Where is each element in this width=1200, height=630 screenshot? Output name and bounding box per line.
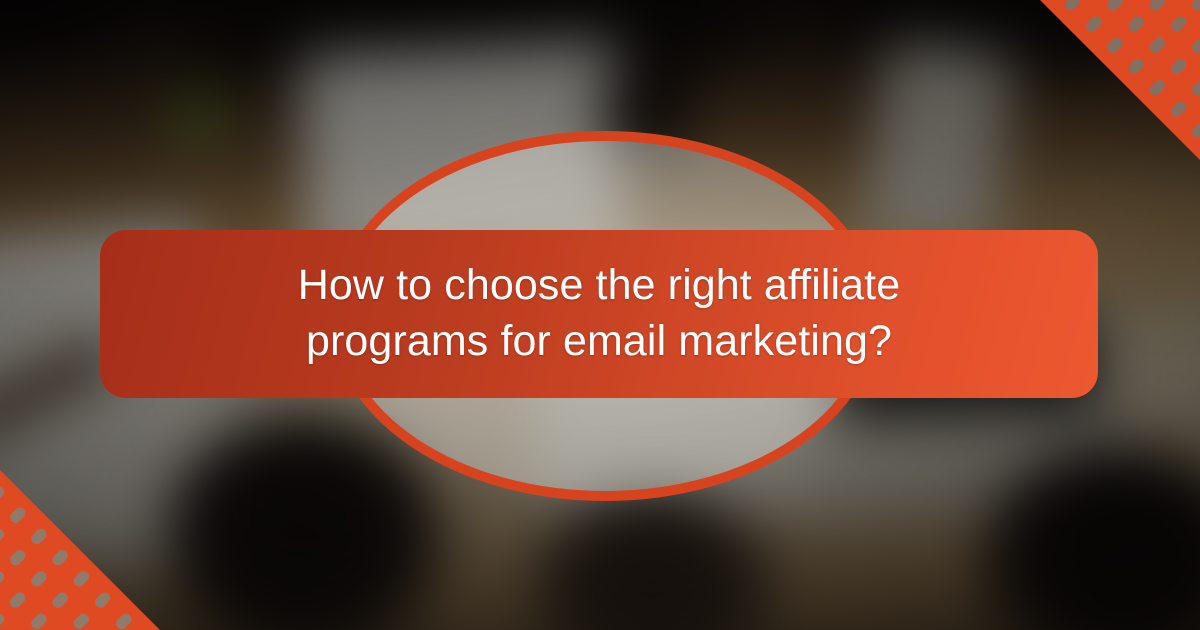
page-title: How to choose the right affiliate progra… xyxy=(204,258,994,370)
corner-decoration-bottom-left-icon xyxy=(0,470,230,630)
featured-image-canvas: How to choose the right affiliate progra… xyxy=(0,0,1200,630)
headline-card: How to choose the right affiliate progra… xyxy=(100,230,1098,398)
corner-decoration-top-right-icon xyxy=(970,0,1200,160)
